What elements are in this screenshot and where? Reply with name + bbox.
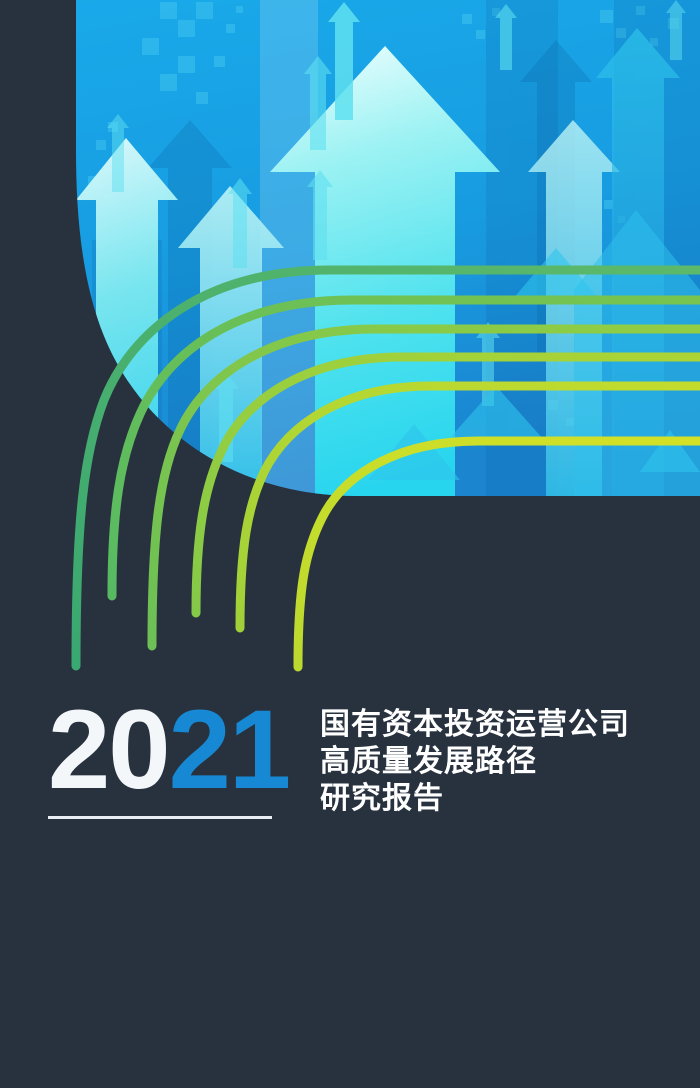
year-part-light: 20 (48, 687, 169, 812)
title-line-3: 研究报告 (320, 780, 692, 817)
year-part-accent: 21 (169, 687, 290, 812)
blue-vertical-bars (68, 873, 240, 1088)
title-line-1: 国有资本投资运营公司 (320, 706, 692, 743)
title-line-2: 高质量发展路径 (320, 743, 692, 780)
cover-artwork (0, 0, 700, 1088)
report-cover-page: 2021 国有资本投资运营公司 高质量发展路径 研究报告 (0, 0, 700, 1088)
year-underline-rule (48, 816, 272, 819)
cover-year-block: 2021 (48, 694, 288, 819)
cover-title-block: 国有资本投资运营公司 高质量发展路径 研究报告 (320, 706, 692, 817)
year-number: 2021 (48, 694, 288, 806)
